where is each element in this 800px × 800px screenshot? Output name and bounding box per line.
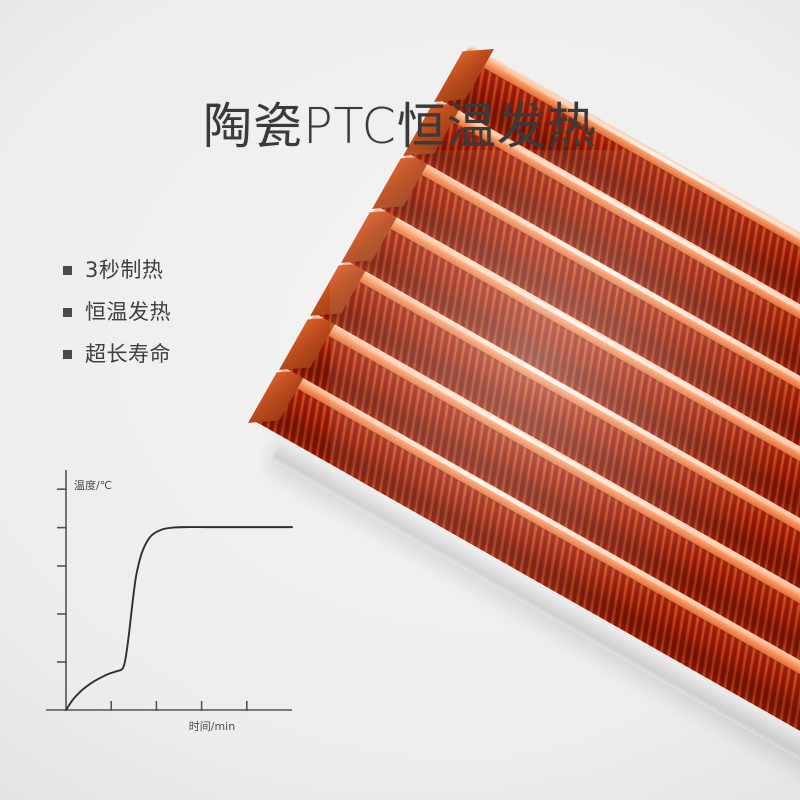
feature-item-label: 恒温发热 xyxy=(85,296,171,326)
chart-x-axis-label: 时间/min xyxy=(189,720,235,733)
square-bullet-icon xyxy=(63,308,72,317)
feature-list: 3秒制热 恒温发热 超长寿命 xyxy=(63,248,303,374)
chart-y-axis-label: 温度/℃ xyxy=(74,478,112,492)
page-title: 陶瓷PTC恒温发热 xyxy=(0,97,800,157)
chart-curve xyxy=(66,527,292,710)
square-bullet-icon xyxy=(63,350,72,359)
feature-item-3: 超长寿命 xyxy=(63,332,303,374)
feature-item-label: 3秒制热 xyxy=(85,254,163,284)
feature-item-1: 3秒制热 xyxy=(63,248,303,290)
feature-item-2: 恒温发热 xyxy=(63,290,303,332)
temperature-time-chart: 温度/℃ 时间/min xyxy=(44,462,300,742)
chart-svg: 温度/℃ 时间/min xyxy=(44,462,300,742)
feature-item-label: 超长寿命 xyxy=(85,338,171,368)
product-feature-banner: 陶瓷PTC恒温发热 3秒制热 恒温发热 超长寿命 温度/℃ 时间/min xyxy=(0,0,800,800)
square-bullet-icon xyxy=(63,266,72,275)
ptc-heater-product-image xyxy=(238,130,800,800)
